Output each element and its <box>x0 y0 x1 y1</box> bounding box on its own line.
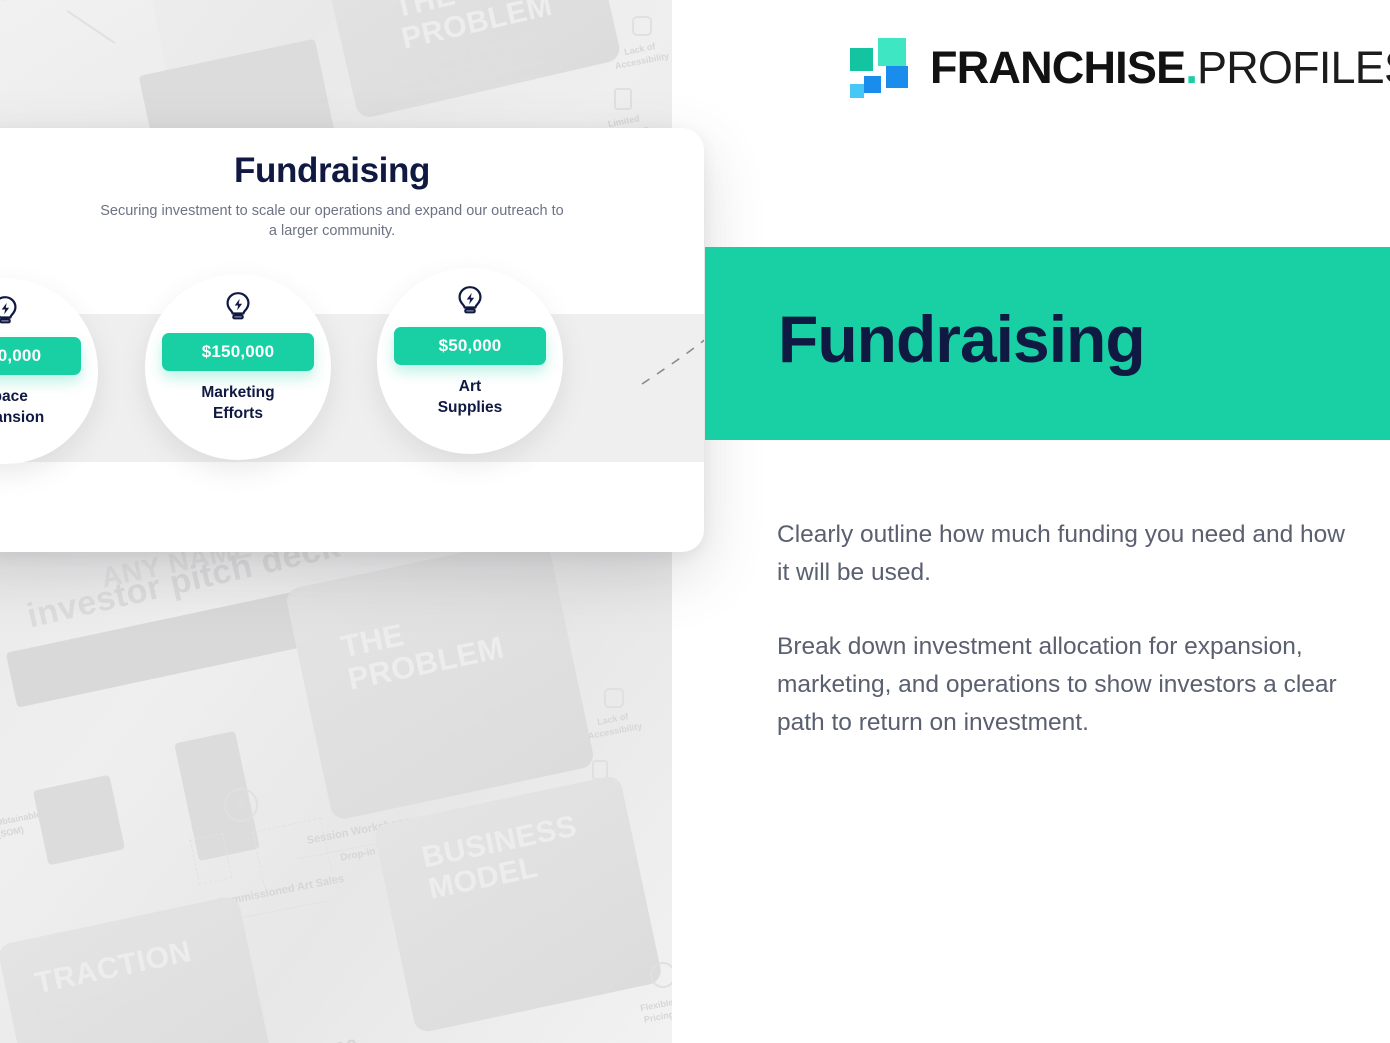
funding-label-line-1: Space <box>0 388 28 405</box>
logo-wordmark: FRANCHISE.PROFILES <box>930 45 1390 90</box>
body-paragraph-2: Break down investment allocation for exp… <box>777 628 1352 742</box>
background-slide-traction: TRACTION Significant milestones demonstr… <box>0 895 281 1043</box>
funding-label-line-1: Marketing <box>201 384 274 401</box>
accessibility-icon <box>604 688 624 708</box>
dollar-icon <box>650 962 672 988</box>
logo-square-teal-dark <box>850 48 873 71</box>
logo-word-franchise: FRANCHISE <box>930 42 1185 93</box>
funding-label-line-1: Art <box>459 378 481 395</box>
section-banner: Fundraising <box>705 247 1390 440</box>
section-title: Fundraising <box>778 301 1145 377</box>
brand-logo[interactable]: FRANCHISE.PROFILES <box>850 38 1390 96</box>
background-label-accessibility: Lack of Accessibility <box>574 707 653 744</box>
body-paragraph-1: Clearly outline how much funding you nee… <box>777 516 1352 592</box>
background-stat-value: 1,000 <box>304 1035 360 1043</box>
background-label-flexible-pricing: Flexible Pricing <box>626 994 672 1028</box>
background-slide-title: KET <box>0 0 149 9</box>
logo-word-profiles: PROFILES <box>1197 42 1390 93</box>
logo-square-blue-large <box>886 66 908 88</box>
lightbulb-bolt-icon <box>453 284 487 318</box>
funding-node-space-expansion[interactable]: $150,000 Space Expansion <box>0 278 98 464</box>
background-slide-business-model: BUSINESS MODEL Revenue generation throug… <box>373 774 664 1034</box>
funding-label-line-2: Expansion <box>0 409 44 426</box>
funding-node-label: Marketing Efforts <box>201 383 274 424</box>
dollar-icon: $ <box>224 788 258 822</box>
resources-icon <box>614 88 632 110</box>
lightbulb-bolt-icon <box>221 290 255 324</box>
funding-node-label: Space Expansion <box>0 387 44 428</box>
funding-amount-pill: $50,000 <box>394 327 546 365</box>
background-slide-problem: THE PROBLEM Many individuals and communi… <box>284 535 595 822</box>
funding-node-marketing-efforts[interactable]: $150,000 Marketing Efforts <box>145 274 331 460</box>
fundraising-feature-card: Fundraising Securing investment to scale… <box>0 128 704 552</box>
funding-node-art-supplies[interactable]: $50,000 Art Supplies <box>377 268 563 454</box>
funding-amount-pill: $150,000 <box>162 333 314 371</box>
slide-root: KET spaces in urban and is substantial T… <box>0 0 1390 1043</box>
funding-node-label: Art Supplies <box>438 377 503 418</box>
logo-square-blue-small <box>864 76 881 93</box>
logo-mark-icon <box>850 38 908 96</box>
decor-bar <box>33 775 125 866</box>
funding-label-line-2: Supplies <box>438 399 503 416</box>
funding-amount-pill: $150,000 <box>0 337 81 375</box>
logo-square-teal-light <box>878 38 906 66</box>
funding-node-group: $150,000 Space Expansion $150,000 Market… <box>0 278 704 508</box>
logo-dot: . <box>1185 42 1197 93</box>
funding-label-line-2: Efforts <box>213 405 263 422</box>
accessibility-icon <box>632 16 652 36</box>
lightbulb-bolt-icon <box>0 294 22 328</box>
logo-square-cyan <box>850 84 864 98</box>
background-slide-problem-top: THE PROBLEM Many individuals and communi… <box>312 0 622 120</box>
section-body-copy: Clearly outline how much funding you nee… <box>777 516 1352 742</box>
